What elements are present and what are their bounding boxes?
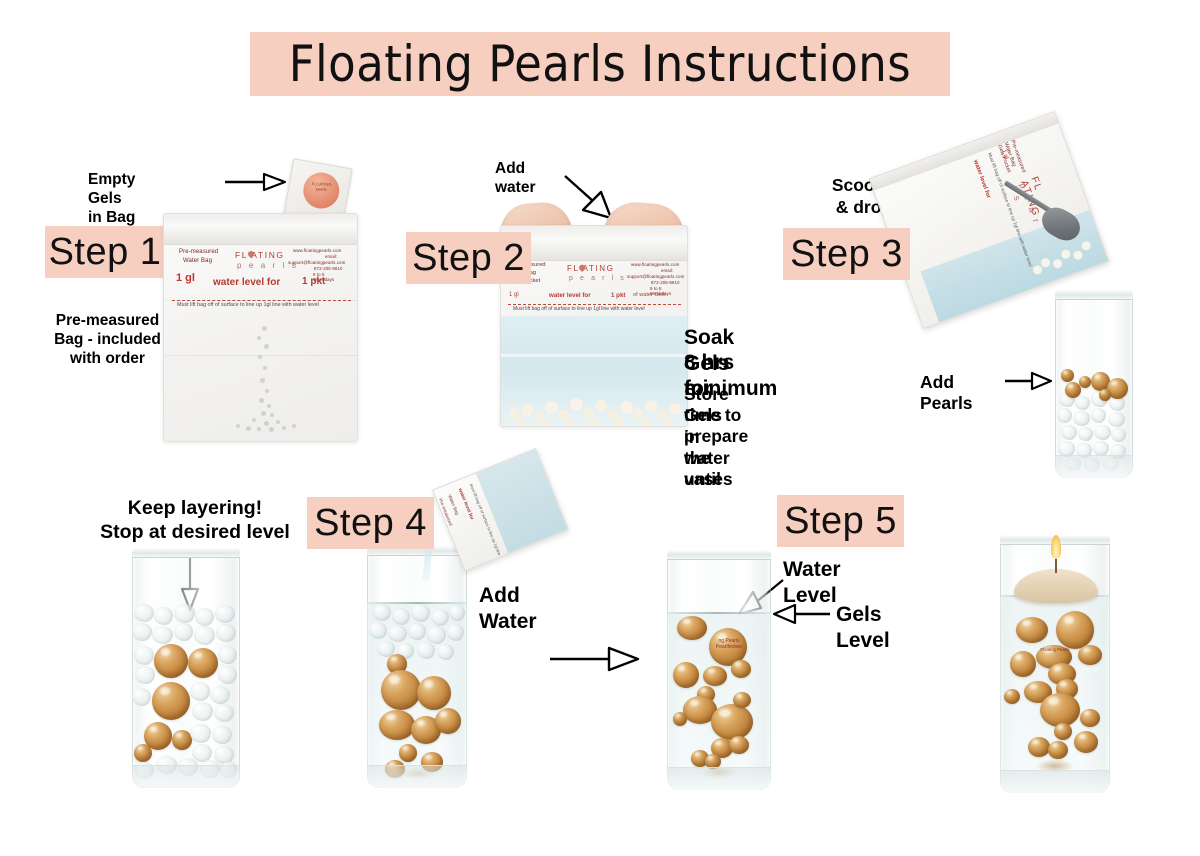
step-1-chip: Step 1 [45,226,165,278]
arrow-right-outline-icon [1005,371,1053,391]
add-water-step4-label: Add Water [479,583,537,634]
vase-step5-photo: ng PearlsPearlfection [667,550,771,790]
water-level-label: Water Level [783,557,841,608]
spoon-photo [1005,176,1097,268]
bag-gallon-text: 1 gl [176,272,195,284]
bag2-fine-print: Must lift bag off of surface to line up … [513,306,645,312]
bag2-gallon: 1 gl [509,292,519,298]
bag-phone: 872-205-9810 [314,266,343,271]
step-4-chip: Step 4 [307,497,434,549]
vase-final-with-candle-photo: Floating Pearls [1000,535,1110,793]
page-title: Floating Pearls Instructions [289,35,911,93]
premeasured-bag-note: Pre-measured Bag - included with order [45,312,170,369]
empty-gels-label: Empty Gels in Bag [88,171,135,228]
vase-step4-photo [367,546,467,788]
bag-website: www.floatingpearls.com [293,248,341,253]
bag2-ofgels: of water Gels [633,292,666,298]
floating-candle [1014,569,1098,603]
arrow-right-outline-icon [225,172,287,192]
bag-email-address: support@floatingpearls.com [288,260,345,265]
store-line-2: time to prepare the vases [684,405,748,490]
water-bag-photo: Pre-measured Water Bag 1 gl FL ATING p e… [163,213,358,442]
add-pearls-label: Add Pearls [920,372,973,415]
bag-fine-print: Must lift bag off of surface to line up … [177,302,319,308]
bag2-brand-floating: FL ATING [567,264,614,273]
bag-water-level-for: water level for [213,277,280,288]
bag2-email-addr: support@floatingpearls.com [627,274,684,279]
pearl-brand-print-2: Floating Pearls [1038,647,1072,652]
vase-layering-photo [132,548,240,788]
bag2-email: email: [661,268,673,273]
bag2-phone: 872-205-9810 [651,280,680,285]
bag-email: email: [325,254,337,259]
step-3-chip: Step 3 [783,228,910,280]
pearl-brand-print: ng PearlsPearlfection [711,638,747,650]
arrow-right-outline-icon [548,645,640,673]
bag2-brand-pearls: p e a r l s [569,275,626,282]
keep-layering-line-1: Keep layering! [70,497,320,521]
bag2-website: www.floatingpearls.com [631,262,679,267]
keep-layering-line-2: Stop at desired level [62,521,328,545]
bag2-pkt: 1 pkt [611,292,625,299]
gels-level-label: Gels Level [836,602,890,653]
vase-step3-photo [1055,290,1133,478]
page-title-banner: Floating Pearls Instructions [250,32,950,96]
bag4-waterbag: Water Bag [447,494,460,516]
bag-brand-floating: FL ATING [235,250,285,260]
add-water-label: Add water [495,160,536,198]
step-2-chip: Step 2 [406,232,531,284]
candle-flame [1051,535,1061,559]
bag-waterbag-text: Water Bag [183,258,212,264]
bag2-wl: water level for [549,292,591,299]
bag-one-pkt: 1 pkt [302,276,325,287]
bag3-wl: water level for [972,159,991,199]
bag-premeasured-text: Pre-measured [179,249,218,255]
step-5-chip: Step 5 [777,495,904,547]
